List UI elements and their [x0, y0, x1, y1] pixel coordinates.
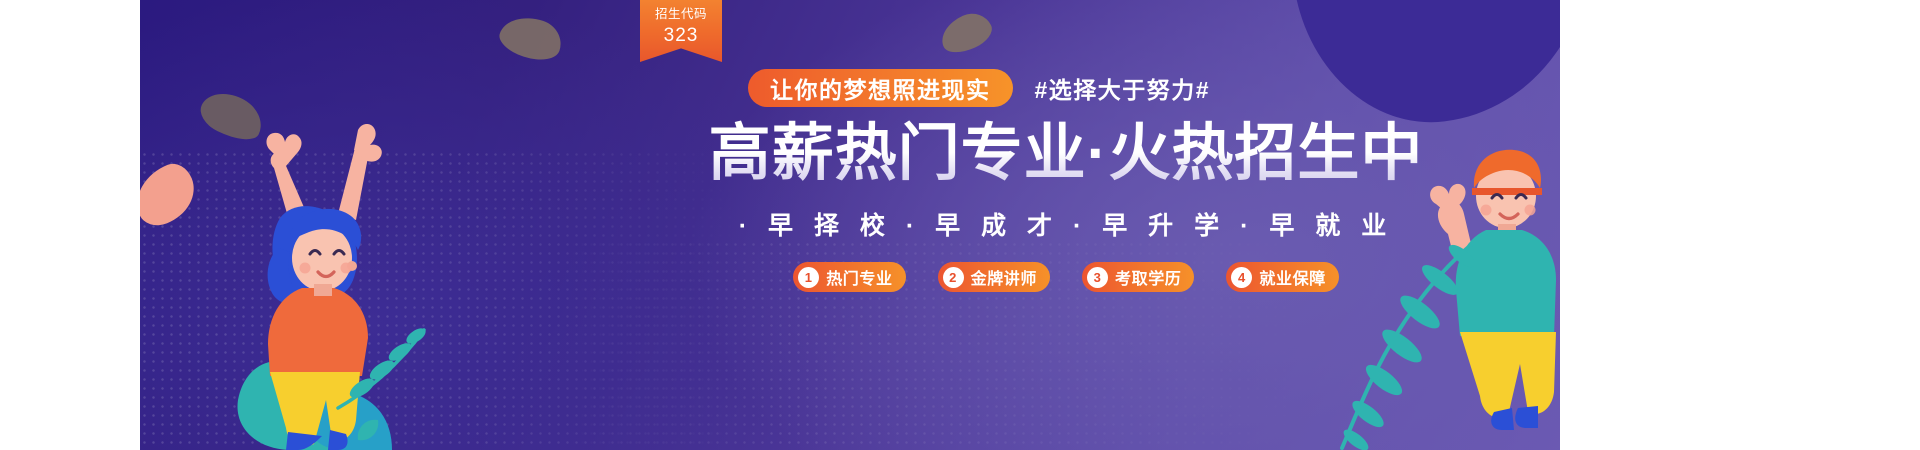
feature-label-2: 金牌讲师 — [971, 265, 1037, 289]
feature-number-1: 1 — [798, 267, 819, 288]
feature-label-3: 考取学历 — [1115, 265, 1181, 289]
admission-code-label: 招生代码 — [640, 0, 722, 21]
feature-number-2: 2 — [943, 267, 964, 288]
admissions-promo-banner: 招生代码 323 让你的梦想照进现实 #选择大于努力# 高薪热门专业·火热招生中… — [140, 0, 1560, 450]
feature-number-4: 4 — [1231, 267, 1252, 288]
tagline-row: 让你的梦想照进现实 #选择大于努力# — [748, 68, 1210, 108]
blob-shape-top-right — [1290, 0, 1560, 138]
blob-shape-brown-a — [495, 9, 566, 66]
feature-pill-row: 1 热门专业 2 金牌讲师 3 考取学历 4 就业保障 — [656, 262, 1476, 292]
blob-shape-brown-b — [935, 7, 996, 59]
admission-code-number: 323 — [640, 21, 722, 45]
feature-label-4: 就业保障 — [1259, 265, 1325, 289]
banner-subtitle: · 早 择 校 · 早 成 才 · 早 升 学 · 早 就 业 — [656, 206, 1476, 242]
feature-pill-3[interactable]: 3 考取学历 — [1082, 262, 1194, 292]
leaf-sprig-left — [328, 296, 448, 416]
tagline-hashtag: #选择大于努力# — [1035, 71, 1211, 105]
admission-code-badge: 招生代码 323 — [640, 0, 722, 62]
feature-pill-1[interactable]: 1 热门专业 — [793, 262, 905, 292]
feature-pill-4[interactable]: 4 就业保障 — [1226, 262, 1338, 292]
feature-pill-2[interactable]: 2 金牌讲师 — [938, 262, 1050, 292]
feature-label-1: 热门专业 — [826, 265, 892, 289]
tagline-pill: 让你的梦想照进现实 — [748, 69, 1013, 107]
banner-canvas: 招生代码 323 让你的梦想照进现实 #选择大于努力# 高薪热门专业·火热招生中… — [0, 0, 1920, 450]
feature-number-3: 3 — [1087, 267, 1108, 288]
banner-headline: 高薪热门专业·火热招生中 — [656, 118, 1476, 190]
